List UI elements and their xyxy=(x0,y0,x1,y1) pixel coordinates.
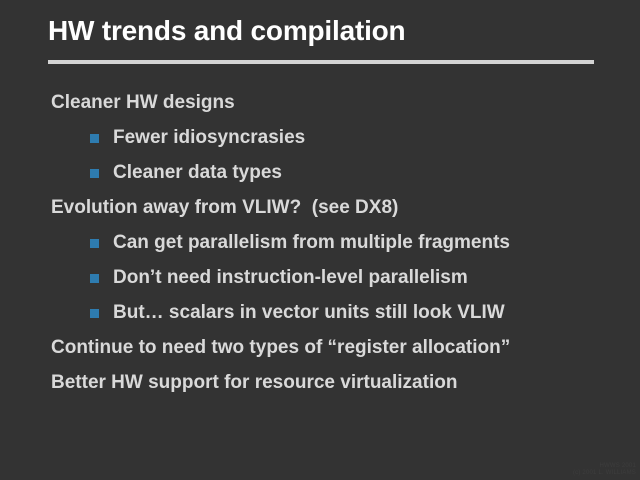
list-item-label: Don’t need instruction-level parallelism xyxy=(113,267,468,289)
slide-footer: HWWS 2001 (c) 2001 L. WILLIAMS xyxy=(573,463,636,477)
title-divider-rule xyxy=(48,60,594,64)
list-item-top: Better HW support for resource virtualiz… xyxy=(0,372,640,407)
title-block: HW trends and compilation xyxy=(48,14,596,48)
list-item-label: Evolution away from VLIW? (see DX8) xyxy=(51,197,398,219)
list-item-top: Cleaner HW designs xyxy=(0,92,640,127)
footer-line-1: HWWS 2001 xyxy=(573,463,636,470)
list-item: Don’t need instruction-level parallelism xyxy=(0,267,640,302)
list-item: Fewer idiosyncrasies xyxy=(0,127,640,162)
list-item-label: But… scalars in vector units still look … xyxy=(113,302,505,324)
list-item: But… scalars in vector units still look … xyxy=(0,302,640,337)
list-item-label: Cleaner HW designs xyxy=(51,92,235,114)
square-bullet-icon xyxy=(90,274,99,283)
list-item-label: Better HW support for resource virtualiz… xyxy=(51,372,457,394)
list-item-top: Evolution away from VLIW? (see DX8) xyxy=(0,197,640,232)
list-item-label: Fewer idiosyncrasies xyxy=(113,127,305,149)
list-item: Can get parallelism from multiple fragme… xyxy=(0,232,640,267)
list-item-top: Continue to need two types of “register … xyxy=(0,337,640,372)
page-title: HW trends and compilation xyxy=(48,14,596,48)
footer-line-2: (c) 2001 L. WILLIAMS xyxy=(573,470,636,477)
list-item-label: Can get parallelism from multiple fragme… xyxy=(113,232,510,254)
slide-canvas: HW trends and compilation Cleaner HW des… xyxy=(0,0,640,480)
square-bullet-icon xyxy=(90,134,99,143)
square-bullet-icon xyxy=(90,239,99,248)
list-item-label: Continue to need two types of “register … xyxy=(51,337,510,359)
list-item: Cleaner data types xyxy=(0,162,640,197)
square-bullet-icon xyxy=(90,309,99,318)
bullet-list: Cleaner HW designsFewer idiosyncrasiesCl… xyxy=(0,92,640,407)
square-bullet-icon xyxy=(90,169,99,178)
list-item-label: Cleaner data types xyxy=(113,162,282,184)
